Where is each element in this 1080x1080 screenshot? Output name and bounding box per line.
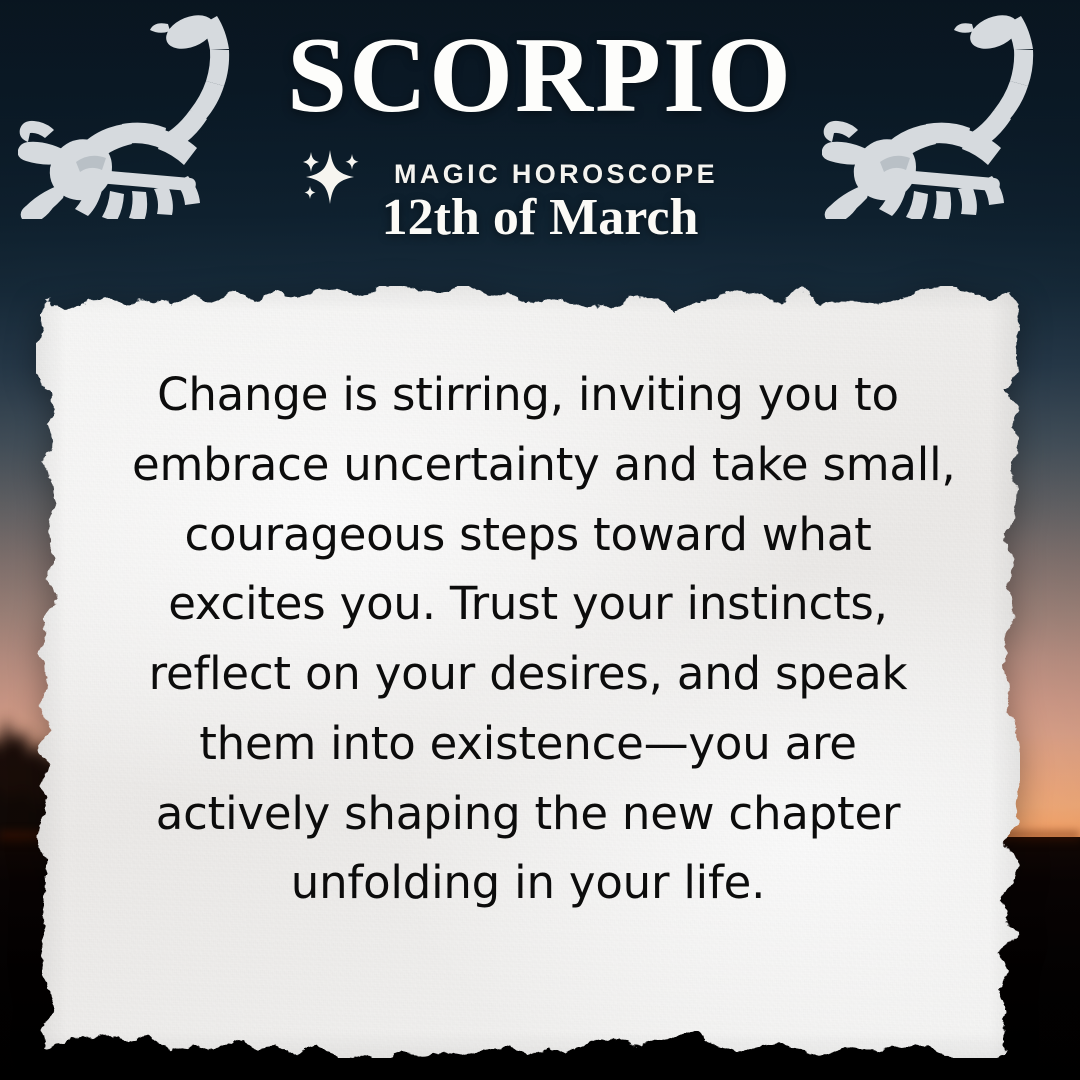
zodiac-sign-title: SCORPIO <box>0 22 1080 130</box>
horoscope-poster: SCORPIO MAGIC HOROSCOPE 12th of March <box>0 0 1080 1080</box>
horoscope-line: Change is stirring, inviting you to <box>132 360 924 430</box>
horoscope-line: courageous steps toward what <box>132 500 924 570</box>
horoscope-line: reflect on your desires, and speak <box>132 639 924 709</box>
horoscope-line: them into existence—you are <box>132 709 924 779</box>
horoscope-line: unfolding in your life. <box>132 848 924 918</box>
poster-header: SCORPIO MAGIC HOROSCOPE 12th of March <box>0 0 1080 280</box>
horoscope-text: Change is stirring, inviting you to embr… <box>132 360 924 918</box>
horoscope-line: actively shaping the new chapter <box>132 779 924 849</box>
brand-label: MAGIC HOROSCOPE <box>394 159 790 190</box>
horoscope-line: embrace uncertainty and take small, <box>132 430 924 500</box>
horoscope-line: excites you. Trust your instincts, <box>132 569 924 639</box>
horoscope-date: 12th of March <box>0 192 1080 244</box>
torn-paper-card: Change is stirring, inviting you to embr… <box>36 286 1020 1058</box>
